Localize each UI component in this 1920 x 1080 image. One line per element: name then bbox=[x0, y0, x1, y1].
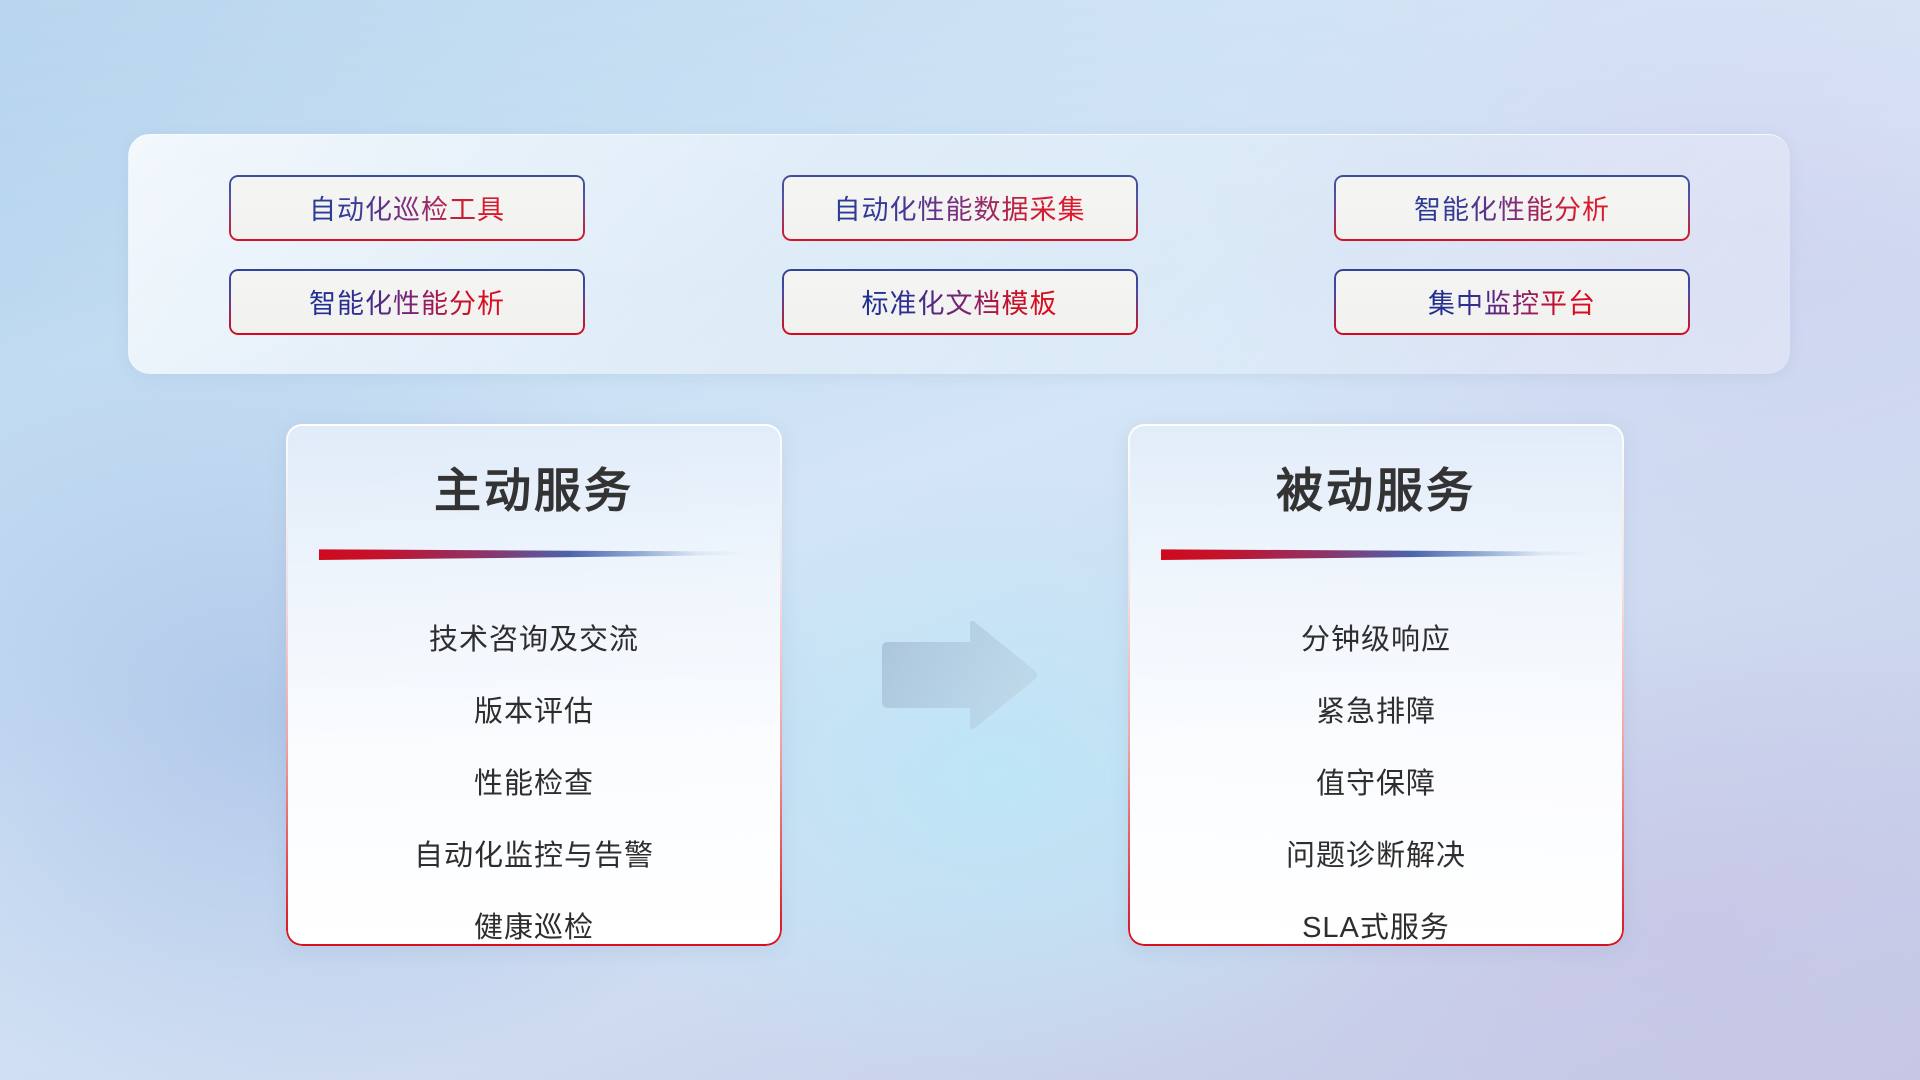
capability-column-3: 智能化性能分析 集中监控平台 bbox=[1334, 175, 1690, 335]
capability-pill[interactable]: 智能化性能分析 bbox=[229, 269, 585, 335]
capability-pill-label: 集中监控平台 bbox=[1428, 282, 1596, 321]
service-card-proactive[interactable]: 主动服务 技术咨询及交流 版本评估 性能检查 自动化监控与告警 健康巡检 bbox=[286, 424, 782, 946]
card-title: 主动服务 bbox=[286, 452, 782, 521]
list-item: 性能检查 bbox=[286, 748, 782, 820]
list-item: 自动化监控与告警 bbox=[286, 820, 782, 892]
capability-pill[interactable]: 集中监控平台 bbox=[1334, 269, 1690, 335]
capability-pill-label: 自动化性能数据采集 bbox=[834, 188, 1086, 227]
list-item: 分钟级响应 bbox=[1128, 604, 1624, 676]
card-divider bbox=[1161, 547, 1591, 560]
service-card-reactive[interactable]: 被动服务 分钟级响应 紧急排障 值守保障 问题诊断解决 SLA式服务 bbox=[1128, 424, 1624, 946]
capability-pill-label: 智能化性能分析 bbox=[1414, 188, 1610, 227]
list-item: 紧急排障 bbox=[1128, 676, 1624, 748]
capability-panel: 自动化巡检工具 智能化性能分析 自动化性能数据采集 标准化文档模板 智能化性能分… bbox=[128, 134, 1790, 374]
capability-pill-label: 标准化文档模板 bbox=[862, 282, 1058, 321]
capability-pill-label: 自动化巡检工具 bbox=[309, 188, 505, 227]
slide-canvas: 自动化巡检工具 智能化性能分析 自动化性能数据采集 标准化文档模板 智能化性能分… bbox=[0, 0, 1920, 1080]
capability-pill[interactable]: 标准化文档模板 bbox=[782, 269, 1138, 335]
list-item: 健康巡检 bbox=[286, 892, 782, 946]
card-divider bbox=[319, 547, 749, 560]
list-item: SLA式服务 bbox=[1128, 892, 1624, 946]
capability-pill-label: 智能化性能分析 bbox=[309, 282, 505, 321]
card-item-list: 分钟级响应 紧急排障 值守保障 问题诊断解决 SLA式服务 bbox=[1128, 604, 1624, 946]
list-item: 值守保障 bbox=[1128, 748, 1624, 820]
card-title: 被动服务 bbox=[1128, 452, 1624, 521]
capability-pill[interactable]: 智能化性能分析 bbox=[1334, 175, 1690, 241]
capability-column-1: 自动化巡检工具 智能化性能分析 bbox=[229, 175, 585, 335]
capability-pill[interactable]: 自动化巡检工具 bbox=[229, 175, 585, 241]
list-item: 问题诊断解决 bbox=[1128, 820, 1624, 892]
capability-column-2: 自动化性能数据采集 标准化文档模板 bbox=[782, 175, 1138, 335]
capability-pill[interactable]: 自动化性能数据采集 bbox=[782, 175, 1138, 241]
card-item-list: 技术咨询及交流 版本评估 性能检查 自动化监控与告警 健康巡检 bbox=[286, 604, 782, 946]
list-item: 技术咨询及交流 bbox=[286, 604, 782, 676]
list-item: 版本评估 bbox=[286, 676, 782, 748]
arrow-right-icon bbox=[876, 620, 1040, 730]
